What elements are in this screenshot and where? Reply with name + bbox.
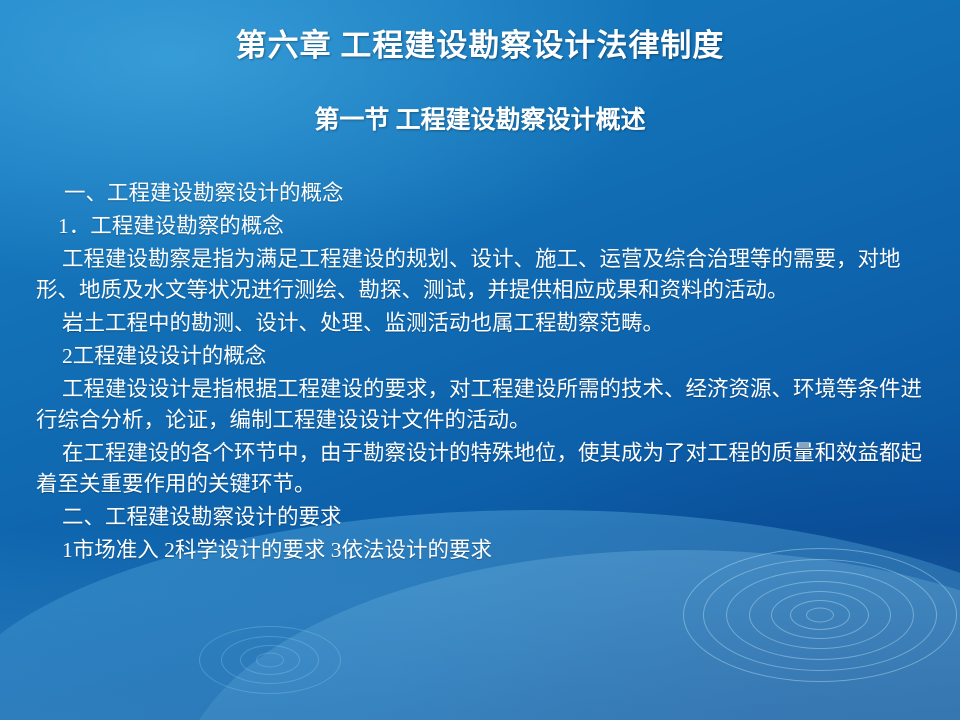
body-paragraph-4: 岩土工程中的勘测、设计、处理、监测活动也属工程勘察范畴。 — [36, 308, 931, 339]
body-paragraph-2: 1．工程建设勘察的概念 — [36, 211, 931, 242]
body-paragraph-9: 1市场准入 2科学设计的要求 3依法设计的要求 — [36, 535, 931, 566]
body-paragraph-5: 2工程建设设计的概念 — [36, 341, 931, 372]
slide-subtitle: 第一节 工程建设勘察设计概述 — [0, 100, 960, 136]
body-paragraph-1: 一、工程建设勘察设计的概念 — [36, 178, 931, 209]
body-paragraph-8: 二、工程建设勘察设计的要求 — [36, 502, 931, 533]
slide-body: 一、工程建设勘察设计的概念 1．工程建设勘察的概念 工程建设勘察是指为满足工程建… — [36, 178, 931, 568]
body-paragraph-3: 工程建设勘察是指为满足工程建设的规划、设计、施工、运营及综合治理等的需要，对地形… — [36, 244, 931, 306]
body-paragraph-7: 在工程建设的各个环节中，由于勘察设计的特殊地位，使其成为了对工程的质量和效益都起… — [36, 438, 931, 500]
presentation-slide: 第六章 工程建设勘察设计法律制度 第一节 工程建设勘察设计概述 一、工程建设勘察… — [0, 0, 960, 720]
slide-content: 第六章 工程建设勘察设计法律制度 第一节 工程建设勘察设计概述 一、工程建设勘察… — [0, 0, 960, 720]
body-paragraph-6: 工程建设设计是指根据工程建设的要求，对工程建设所需的技术、经济资源、环境等条件进… — [36, 374, 931, 436]
slide-title: 第六章 工程建设勘察设计法律制度 — [0, 20, 960, 65]
